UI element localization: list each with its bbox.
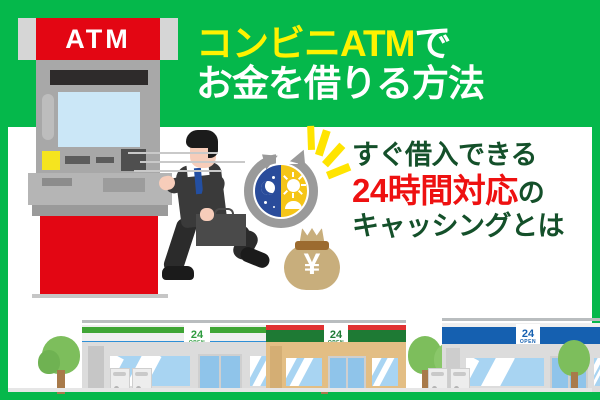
motion-line-3 <box>134 170 222 172</box>
store-3-window-left <box>466 358 544 386</box>
motion-line-2 <box>140 161 245 163</box>
businessman-front-hand <box>200 208 214 221</box>
store-2-door <box>328 356 366 392</box>
atm-sign: ATM <box>36 18 160 60</box>
atm-lower-red-panel <box>40 216 158 294</box>
store-2-roofline <box>266 320 406 323</box>
headline-block: コンビニATMで お金を借りる方法 <box>196 8 594 120</box>
atm-cashing-banner: コンビニATMで お金を借りる方法 ATM <box>0 0 600 400</box>
atm-counter-surface <box>103 178 145 192</box>
motion-line-1 <box>128 152 218 154</box>
store-2: 24 OPEN <box>266 314 406 392</box>
atm-base-lip <box>32 205 168 216</box>
headline-line-2: お金を借りる方法 <box>196 65 594 103</box>
vm-panel <box>113 372 126 376</box>
businessman-back-shoe <box>162 266 194 280</box>
tree-5-foliage <box>558 340 590 376</box>
vm-buttons <box>136 378 147 380</box>
subhead-line-2-suffix: の <box>518 178 545 208</box>
tree-5 <box>556 340 596 392</box>
sparkle-ray-0 <box>307 126 315 150</box>
headline-line-1-highlight: コンビニATM <box>196 23 414 64</box>
store-2-door-split <box>346 358 348 390</box>
star-icon-2 <box>264 201 267 204</box>
sun-ray-1 <box>292 172 294 177</box>
store-1-pillar <box>88 346 104 392</box>
vm-buttons <box>454 378 465 380</box>
vm-panel <box>453 372 466 376</box>
sun-ray-5 <box>292 193 294 198</box>
atm-pillar-right <box>160 18 178 60</box>
store-2-pillar <box>270 346 282 392</box>
vm-panel <box>135 372 148 376</box>
atm-cash-tray <box>42 178 72 186</box>
businessman-hair-back <box>208 138 218 158</box>
store-2-window-left <box>286 358 322 386</box>
atm-receipt-slot <box>96 157 114 163</box>
headline-line-1-suffix: で <box>414 23 450 64</box>
star-icon-1 <box>272 176 275 179</box>
tree-1 <box>38 336 84 392</box>
atm-pillar-left <box>18 18 36 60</box>
vm-panel <box>431 372 444 376</box>
sun-ray-3 <box>301 184 306 186</box>
atm-sign-label: ATM <box>65 24 130 55</box>
money-bag-icon: ¥ <box>282 228 342 290</box>
day-night-face <box>255 165 307 217</box>
atm-yellow-button <box>42 151 60 170</box>
vm-buttons <box>432 378 443 380</box>
store-2-window-right <box>372 358 398 386</box>
atm-card-slot <box>65 156 90 164</box>
store-3-roofline <box>442 318 600 321</box>
yen-symbol: ¥ <box>282 250 342 280</box>
atm-side-panel <box>42 94 54 140</box>
subhead-line-2: 24時間対応の <box>352 173 584 209</box>
moon-icon <box>261 181 275 195</box>
convenience-store-row: 24 OPEN 24 OPEN <box>8 302 592 392</box>
vm-buttons <box>114 378 125 380</box>
atm-screen <box>58 92 140 147</box>
businessman-front-shoe <box>238 245 271 270</box>
headline-line-1: コンビニATMで <box>196 25 594 63</box>
horizon-hill <box>285 201 302 209</box>
subhead-line-1: すぐ借入できる <box>352 141 584 170</box>
star-icon-3 <box>273 206 275 208</box>
store-ground-line <box>8 388 592 392</box>
day-night-cycle-icon <box>240 148 326 234</box>
subhead-block: すぐ借入できる 24時間対応の キャッシングとは <box>352 141 584 241</box>
atm-display-bar <box>50 70 148 85</box>
subhead-line-2-emphasis: 24時間対応 <box>352 172 518 209</box>
subhead-line-3: キャッシングとは <box>352 212 584 241</box>
atm-foot <box>32 294 168 298</box>
store-1-door <box>198 354 242 392</box>
store-1-door-split <box>219 356 221 390</box>
